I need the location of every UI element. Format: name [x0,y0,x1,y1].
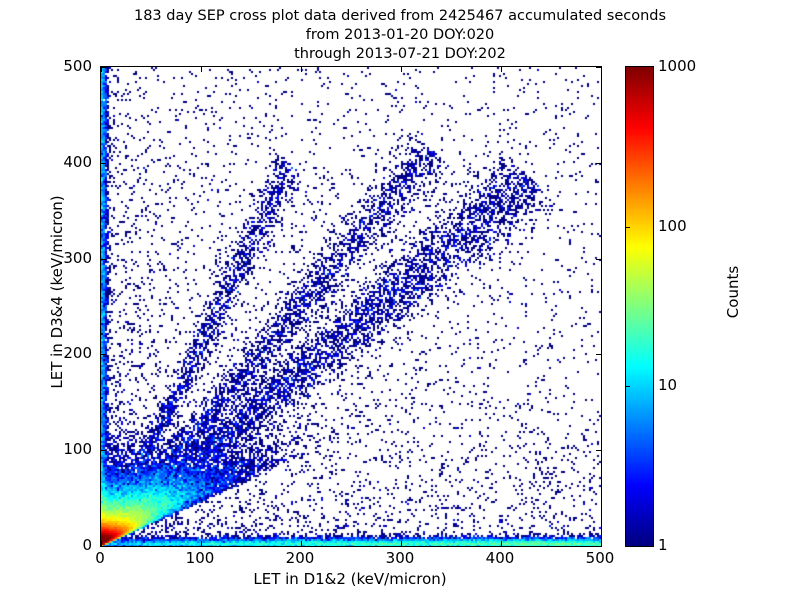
colorbar-ticklabel-1: 1 [658,536,668,554]
x-tick-500 [601,541,602,546]
figure-canvas: 183 day SEP cross plot data derived from… [0,0,800,600]
y-tick-0 [596,546,601,547]
colorbar-ticklabel-100: 100 [658,217,687,235]
x-tick-200 [301,67,302,72]
x-tick-200 [301,541,302,546]
y-axis-label: LET in D3&4 (keV/micron) [48,92,66,492]
y-tick-500 [596,67,601,68]
y-tick-200 [101,354,106,355]
title-line-1: 183 day SEP cross plot data derived from… [0,7,800,26]
y-ticklabel-500: 500 [12,57,92,75]
x-ticklabel-200: 200 [260,549,340,567]
y-tick-100 [596,450,601,451]
x-ticklabel-100: 100 [160,549,240,567]
scatter-heatmap [101,67,601,546]
x-tick-400 [501,67,502,72]
plot-area [100,66,602,547]
x-tick-300 [401,67,402,72]
colorbar-tick-100 [626,227,630,228]
x-axis-label: LET in D1&2 (keV/micron) [100,570,600,588]
colorbar-tick-10 [626,386,630,387]
x-tick-500 [601,67,602,72]
x-ticklabel-300: 300 [360,549,440,567]
title-line-2: from 2013-01-20 DOY:020 [0,26,800,45]
y-tick-400 [596,163,601,164]
y-ticklabel-0: 0 [12,536,92,554]
colorbar [625,66,654,547]
colorbar-gradient [626,67,653,546]
y-tick-300 [596,259,601,260]
y-tick-100 [101,450,106,451]
y-tick-0 [101,546,106,547]
x-ticklabel-500: 500 [560,549,640,567]
colorbar-label: Counts [724,172,742,412]
x-tick-400 [501,541,502,546]
x-ticklabel-400: 400 [460,549,540,567]
y-tick-300 [101,259,106,260]
colorbar-ticklabel-10: 10 [658,376,677,394]
x-tick-100 [201,541,202,546]
y-tick-200 [596,354,601,355]
y-tick-500 [101,67,106,68]
x-tick-300 [401,541,402,546]
plot-title: 183 day SEP cross plot data derived from… [0,7,800,64]
colorbar-ticklabel-1000: 1000 [658,57,696,75]
x-tick-100 [201,67,202,72]
y-tick-400 [101,163,106,164]
